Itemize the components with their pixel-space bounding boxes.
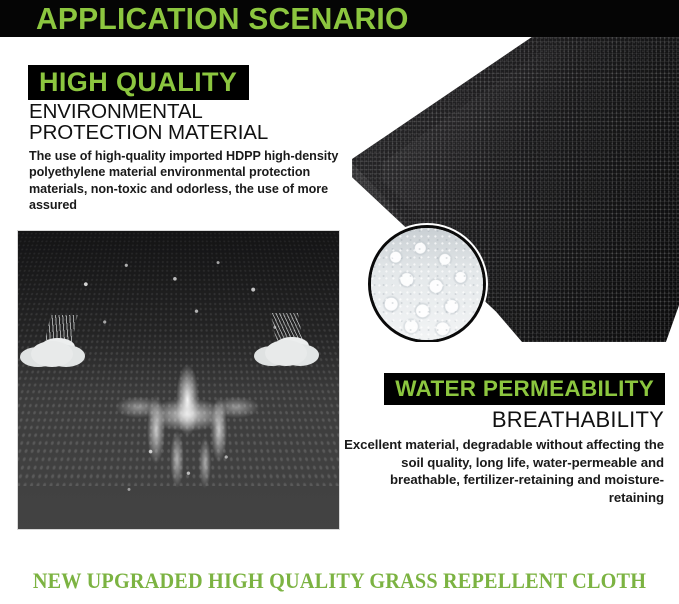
water-splash-burst <box>100 326 275 511</box>
cloud-icon-left <box>31 341 73 367</box>
page-title: APPLICATION SCENARIO <box>36 2 409 35</box>
header-banner: APPLICATION SCENARIO <box>0 0 679 37</box>
pellet-grain-texture <box>371 228 483 340</box>
pellet-inset-circle <box>368 225 486 342</box>
cloud-icon-right <box>265 340 307 366</box>
water-splash-photo <box>17 230 340 530</box>
high-quality-badge: HIGH QUALITY <box>28 65 249 100</box>
fabric-sheet-photo <box>352 37 679 342</box>
right-body-text: Excellent material, degradable without a… <box>342 436 664 506</box>
water-permeability-badge: WATER PERMEABILITY <box>384 373 665 405</box>
left-body-text: The use of high-quality imported HDPP hi… <box>29 148 341 214</box>
footer-tagline: NEW UPGRADED HIGH QUALITY GRASS REPELLEN… <box>27 568 652 594</box>
breathability-heading: BREATHABILITY <box>492 407 664 432</box>
environmental-protection-heading: ENVIRONMENTALPROTECTION MATERIAL <box>29 101 359 143</box>
